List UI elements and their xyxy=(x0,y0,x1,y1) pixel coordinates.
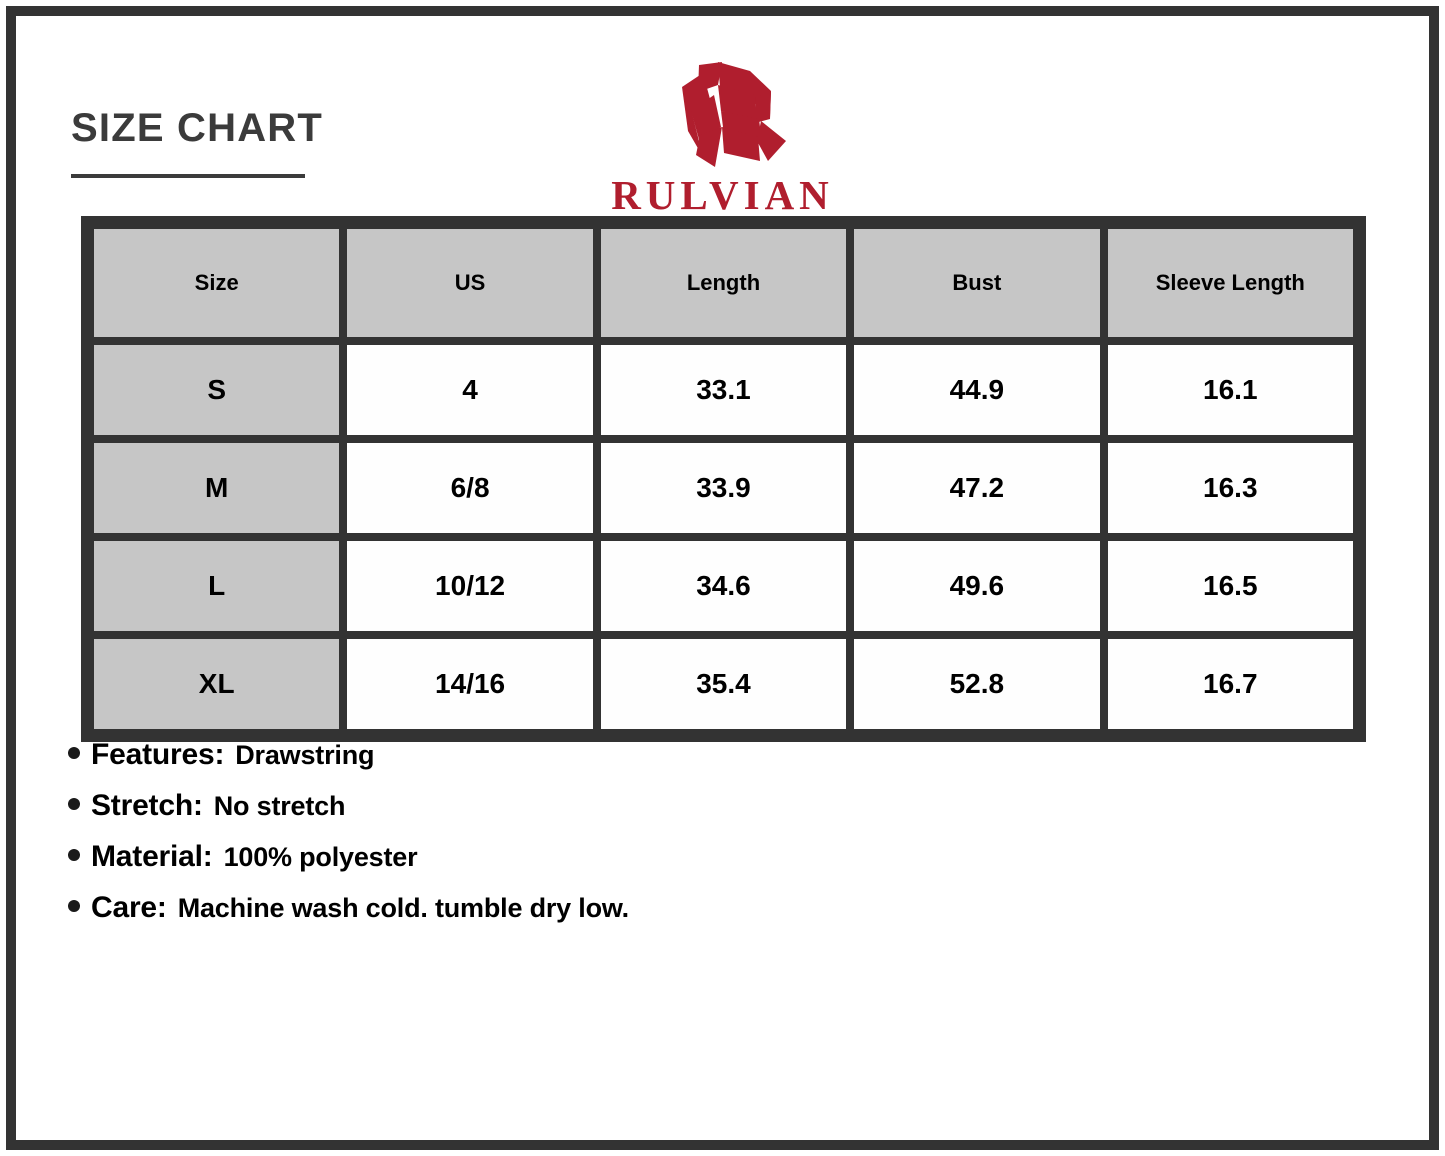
bullet-icon xyxy=(68,798,80,810)
list-item: Features: Drawstring xyxy=(68,738,1268,772)
cell-bust: 44.9 xyxy=(850,341,1103,439)
note-label-material: Material: xyxy=(91,840,213,874)
cell-sleeve-length: 16.3 xyxy=(1104,439,1357,537)
cell-size: XL xyxy=(90,635,343,733)
column-header-bust: Bust xyxy=(850,225,1103,341)
cell-us: 14/16 xyxy=(343,635,596,733)
size-chart-page: SIZE CHART xyxy=(0,0,1445,1156)
page-header: SIZE CHART xyxy=(16,16,1429,206)
table-header-row: Size US Length Bust Sleeve Length xyxy=(90,225,1357,341)
cell-length: 34.6 xyxy=(597,537,850,635)
list-item: Stretch: No stretch xyxy=(68,789,1268,823)
size-table-head: Size US Length Bust Sleeve Length xyxy=(90,225,1357,341)
cell-length: 33.9 xyxy=(597,439,850,537)
cell-us: 4 xyxy=(343,341,596,439)
cell-bust: 49.6 xyxy=(850,537,1103,635)
column-header-size: Size xyxy=(90,225,343,341)
brand-wordmark: RULVIAN xyxy=(16,175,1429,216)
cell-length: 35.4 xyxy=(597,635,850,733)
cell-sleeve-length: 16.7 xyxy=(1104,635,1357,733)
note-value-material: 100% polyester xyxy=(224,842,418,873)
size-table: Size US Length Bust Sleeve Length S 4 33… xyxy=(81,216,1366,742)
note-value-care: Machine wash cold. tumble dry low. xyxy=(178,893,629,924)
cell-size: M xyxy=(90,439,343,537)
table-row: XL 14/16 35.4 52.8 16.7 xyxy=(90,635,1357,733)
list-item: Care: Machine wash cold. tumble dry low. xyxy=(68,891,1268,925)
cell-sleeve-length: 16.5 xyxy=(1104,537,1357,635)
product-notes-list: Features: Drawstring Stretch: No stretch… xyxy=(68,738,1268,942)
bullet-icon xyxy=(68,849,80,861)
page-content: SIZE CHART xyxy=(16,16,1429,1140)
cell-sleeve-length: 16.1 xyxy=(1104,341,1357,439)
table-row: M 6/8 33.9 47.2 16.3 xyxy=(90,439,1357,537)
cell-size: L xyxy=(90,537,343,635)
bullet-icon xyxy=(68,900,80,912)
rulvian-logo-icon xyxy=(658,61,788,169)
cell-length: 33.1 xyxy=(597,341,850,439)
cell-us: 10/12 xyxy=(343,537,596,635)
note-label-care: Care: xyxy=(91,891,167,925)
size-table-body: S 4 33.1 44.9 16.1 M 6/8 33.9 47.2 16.3 xyxy=(90,341,1357,733)
table-row: L 10/12 34.6 49.6 16.5 xyxy=(90,537,1357,635)
column-header-us: US xyxy=(343,225,596,341)
column-header-sleeve-length: Sleeve Length xyxy=(1104,225,1357,341)
cell-us: 6/8 xyxy=(343,439,596,537)
note-value-stretch: No stretch xyxy=(214,791,346,822)
list-item: Material: 100% polyester xyxy=(68,840,1268,874)
note-label-features: Features: xyxy=(91,738,224,772)
size-table-container: Size US Length Bust Sleeve Length S 4 33… xyxy=(81,216,1366,742)
cell-bust: 47.2 xyxy=(850,439,1103,537)
note-label-stretch: Stretch: xyxy=(91,789,203,823)
cell-size: S xyxy=(90,341,343,439)
brand-lockup: RULVIAN xyxy=(16,16,1429,216)
table-row: S 4 33.1 44.9 16.1 xyxy=(90,341,1357,439)
column-header-length: Length xyxy=(597,225,850,341)
bullet-icon xyxy=(68,747,80,759)
cell-bust: 52.8 xyxy=(850,635,1103,733)
note-value-features: Drawstring xyxy=(235,740,374,771)
